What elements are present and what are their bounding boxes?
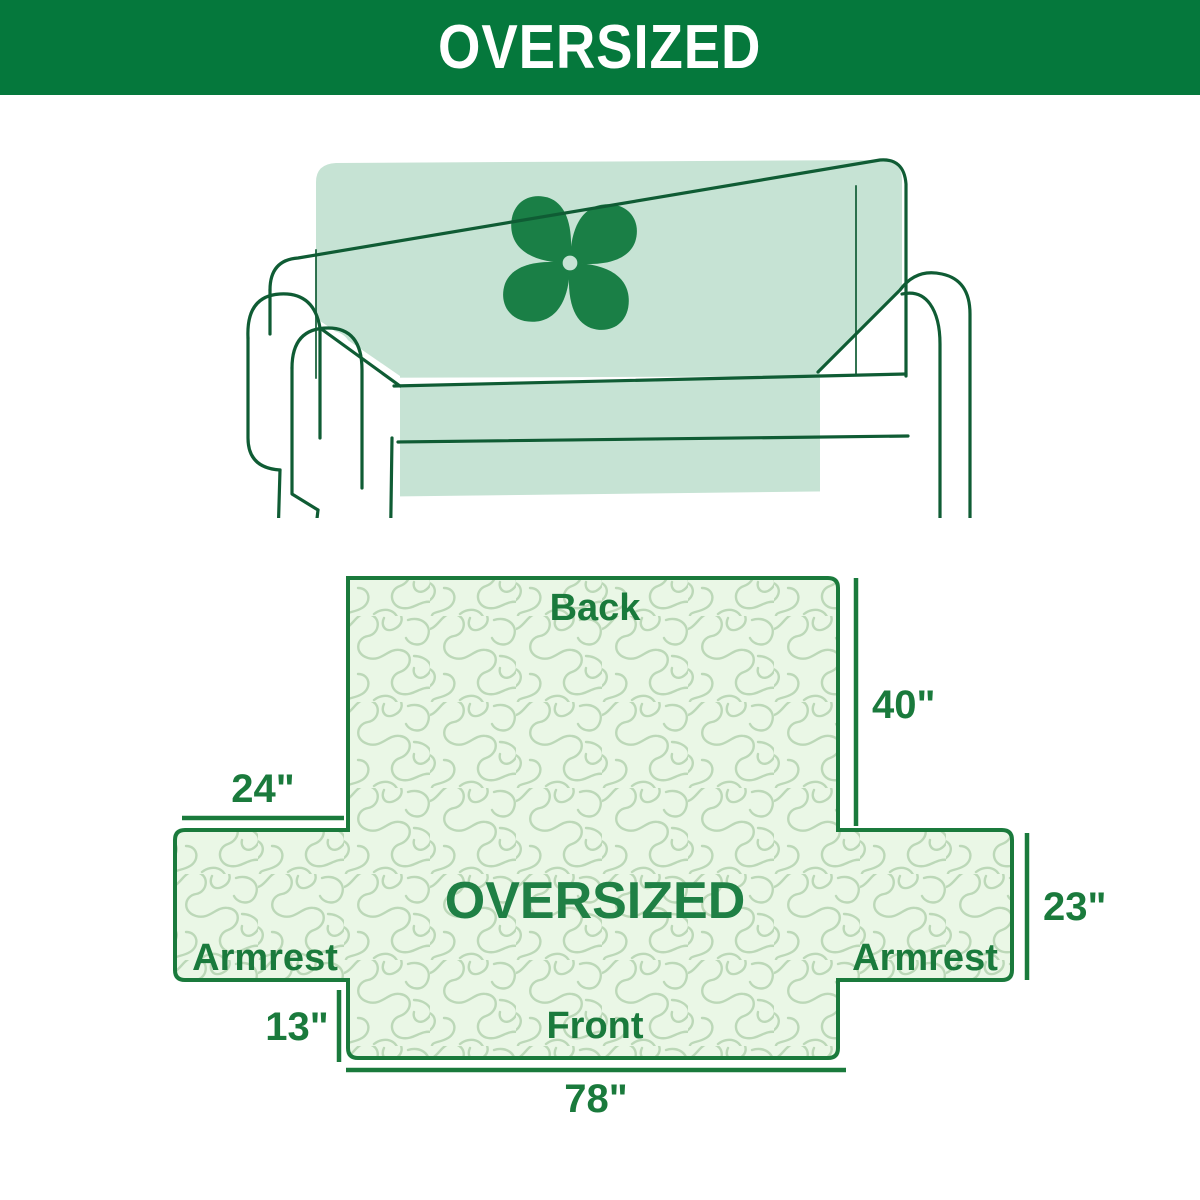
label-front: Front: [546, 1005, 643, 1047]
label-armrest-right: Armrest: [852, 937, 998, 979]
sofa-illustration-svg: [240, 138, 980, 518]
page-banner: OVERSIZED: [0, 0, 1200, 95]
sofa-back-panel: [316, 160, 902, 378]
dimension-24: 24": [231, 767, 294, 811]
sofa-illustration: [240, 138, 980, 518]
dimension-13: 13": [265, 1005, 328, 1049]
dimension-diagram: Back Front Armrest Armrest OVERSIZED 40": [0, 530, 1200, 1130]
screenshot-root: OVERSIZED: [0, 0, 1200, 1200]
dimension-23: 23": [1043, 885, 1106, 929]
banner-title: OVERSIZED: [438, 17, 761, 79]
dimension-78: 78": [564, 1077, 627, 1121]
dimension-diagram-svg: Back Front Armrest Armrest OVERSIZED 40": [0, 530, 1200, 1130]
label-armrest-left: Armrest: [192, 937, 338, 979]
label-center-oversized: OVERSIZED: [445, 872, 746, 930]
dimension-40: 40": [872, 683, 935, 727]
label-back: Back: [550, 587, 642, 629]
